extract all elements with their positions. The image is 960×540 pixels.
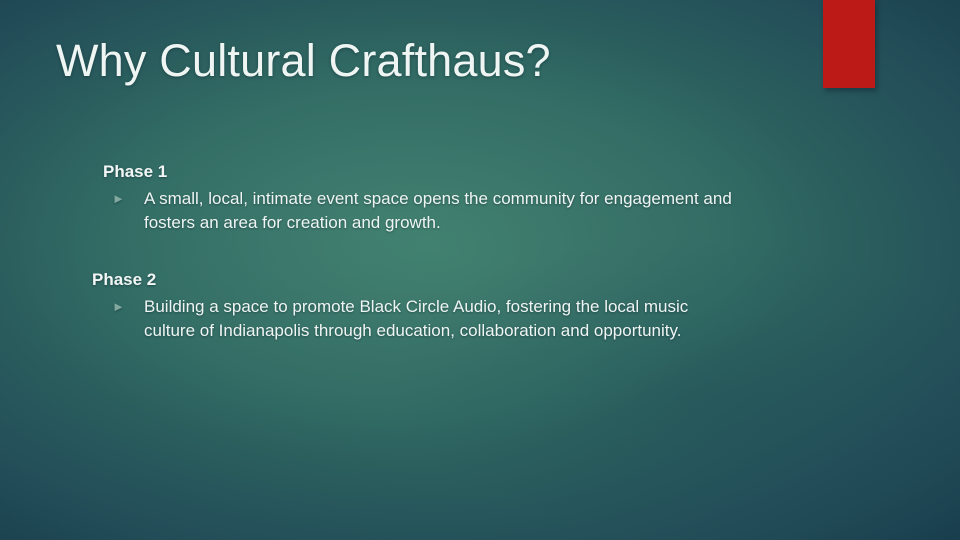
bullet-item: ► A small, local, intimate event space o…: [112, 187, 960, 235]
slide-content: Phase 1 ► A small, local, intimate event…: [0, 160, 960, 343]
bullet-item: ► Building a space to promote Black Circ…: [112, 295, 960, 343]
triangle-bullet-icon: ►: [112, 187, 144, 211]
triangle-bullet-icon: ►: [112, 295, 144, 319]
bullet-text: Building a space to promote Black Circle…: [144, 295, 744, 343]
phase-heading: Phase 2: [92, 268, 960, 292]
red-accent-bar: [823, 0, 875, 88]
phase-block: Phase 1 ► A small, local, intimate event…: [103, 160, 960, 235]
slide-title: Why Cultural Crafthaus?: [56, 35, 796, 87]
phase-block: Phase 2 ► Building a space to promote Bl…: [92, 268, 960, 343]
bullet-text: A small, local, intimate event space ope…: [144, 187, 744, 235]
presentation-slide: Why Cultural Crafthaus? Phase 1 ► A smal…: [0, 0, 960, 540]
phase-heading: Phase 1: [103, 160, 960, 184]
